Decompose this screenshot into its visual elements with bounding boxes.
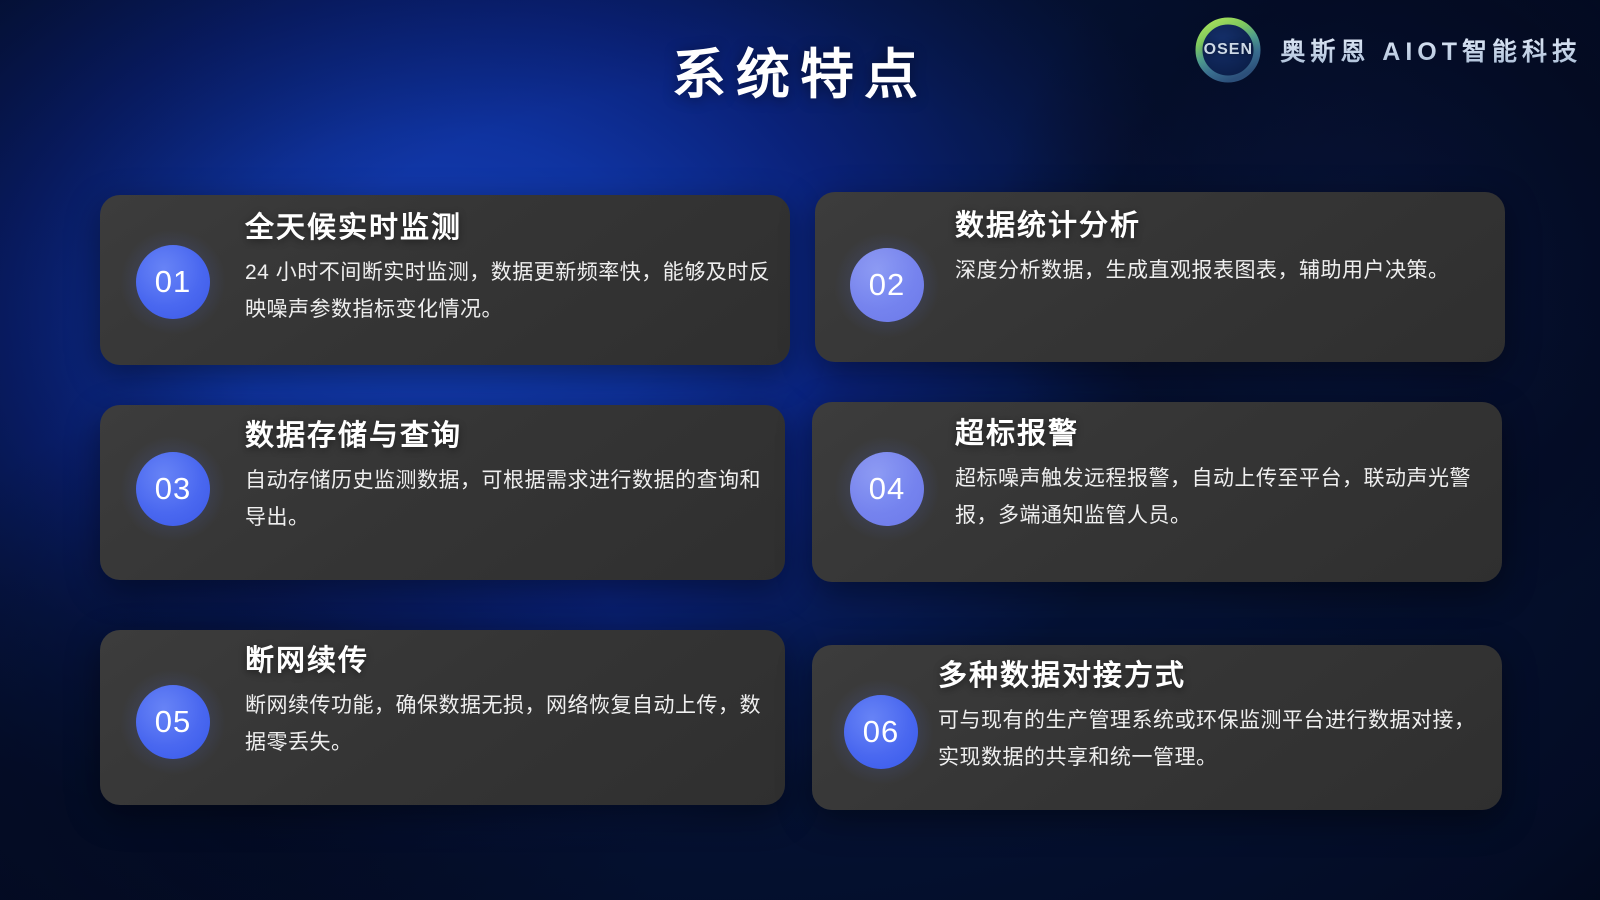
feature-text-04: 超标报警 超标噪声触发远程报警，自动上传至平台，联动声光警报，多端通知监管人员。 [955,418,1485,535]
feature-text-05: 断网续传 断网续传功能，确保数据无损，网络恢复自动上传，数据零丢失。 [245,645,765,762]
osen-ring-icon: OSEN [1190,12,1266,88]
feature-badge-05: 05 [136,685,210,759]
feature-badge-06: 06 [844,695,918,769]
feature-title-02: 数据统计分析 [955,210,1475,243]
feature-card-grid: 01 全天候实时监测 24 小时不间断实时监测，数据更新频率快，能够及时反映噪声… [0,0,1600,900]
feature-badge-04: 04 [850,452,924,526]
header: 系统特点 [0,0,1600,130]
feature-desc-06: 可与现有的生产管理系统或环保监测平台进行数据对接，实现数据的共享和统一管理。 [938,703,1483,777]
brand-name: 奥斯恩 AIOT智能科技 [1280,32,1582,68]
feature-title-06: 多种数据对接方式 [938,660,1483,693]
feature-title-04: 超标报警 [955,418,1485,451]
feature-badge-03: 03 [136,452,210,526]
feature-text-01: 全天候实时监测 24 小时不间断实时监测，数据更新频率快，能够及时反映噪声参数指… [245,212,775,329]
feature-title-03: 数据存储与查询 [245,420,765,453]
feature-text-03: 数据存储与查询 自动存储历史监测数据，可根据需求进行数据的查询和导出。 [245,420,765,537]
feature-desc-02: 深度分析数据，生成直观报表图表，辅助用户决策。 [955,253,1475,290]
feature-badge-01: 01 [136,245,210,319]
brand-logo: OSEN 奥斯恩 AIOT智能科技 [1190,12,1582,88]
feature-title-01: 全天候实时监测 [245,212,775,245]
feature-desc-01: 24 小时不间断实时监测，数据更新频率快，能够及时反映噪声参数指标变化情况。 [245,255,775,329]
feature-desc-03: 自动存储历史监测数据，可根据需求进行数据的查询和导出。 [245,463,765,537]
feature-badge-02: 02 [850,248,924,322]
osen-wordmark: OSEN [1190,12,1266,88]
feature-title-05: 断网续传 [245,645,765,678]
feature-text-02: 数据统计分析 深度分析数据，生成直观报表图表，辅助用户决策。 [955,210,1475,290]
feature-desc-04: 超标噪声触发远程报警，自动上传至平台，联动声光警报，多端通知监管人员。 [955,461,1485,535]
feature-desc-05: 断网续传功能，确保数据无损，网络恢复自动上传，数据零丢失。 [245,688,765,762]
feature-text-06: 多种数据对接方式 可与现有的生产管理系统或环保监测平台进行数据对接，实现数据的共… [938,660,1483,777]
